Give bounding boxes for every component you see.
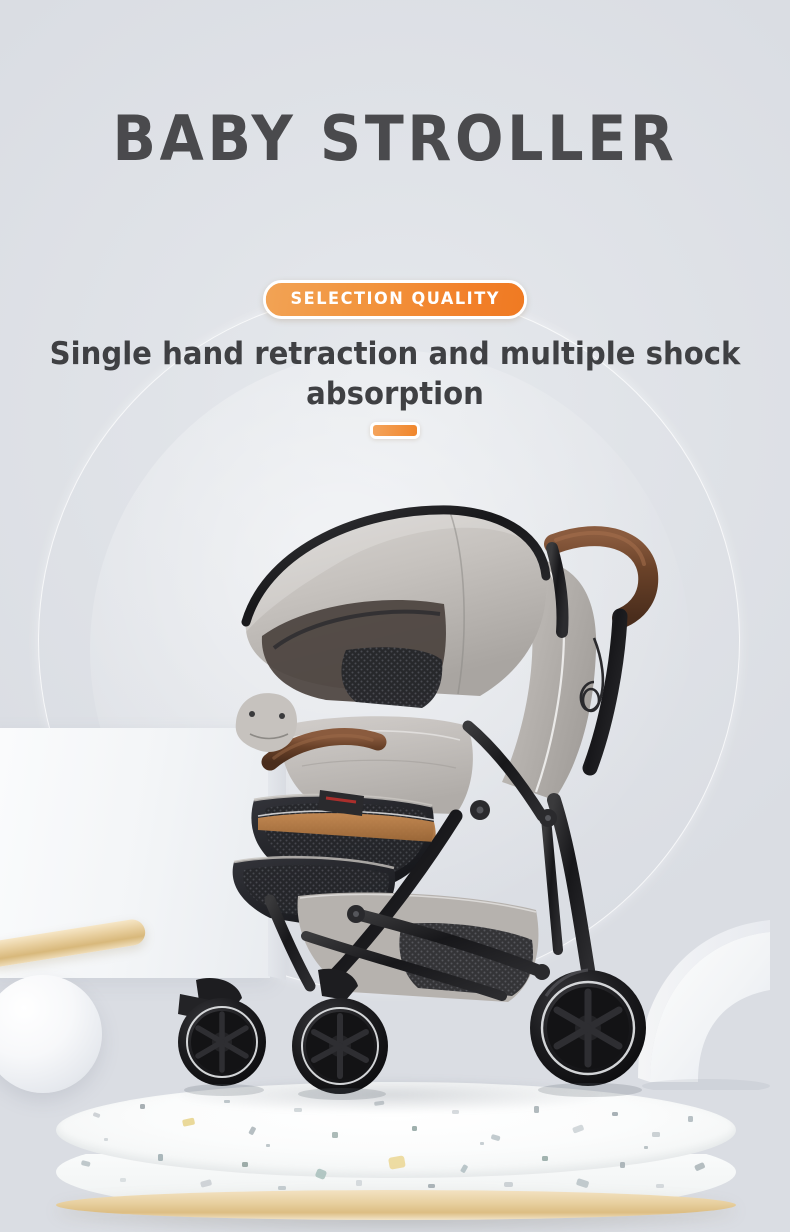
- stroller-headrest-pad: [236, 693, 297, 752]
- stroller-front-wheel: [178, 978, 266, 1086]
- page-subtitle: Single hand retraction and multiple shoc…: [24, 334, 767, 414]
- stroller-canopy-mesh: [341, 647, 442, 708]
- divider-container: [0, 422, 790, 444]
- selection-quality-badge: SELECTION QUALITY: [263, 280, 528, 319]
- product-banner: BABY STROLLER SELECTION QUALITY Single h…: [0, 0, 790, 1232]
- badge-container: SELECTION QUALITY: [0, 280, 790, 319]
- podium-gold-rim: [56, 1190, 736, 1220]
- stroller-product-image: [150, 500, 670, 1120]
- white-sphere-prop: [0, 975, 102, 1093]
- studio-scene: [0, 0, 790, 1232]
- orange-divider-pill: [370, 422, 420, 439]
- page-title: BABY STROLLER: [32, 104, 759, 174]
- stroller-rear-wheel: [530, 970, 646, 1086]
